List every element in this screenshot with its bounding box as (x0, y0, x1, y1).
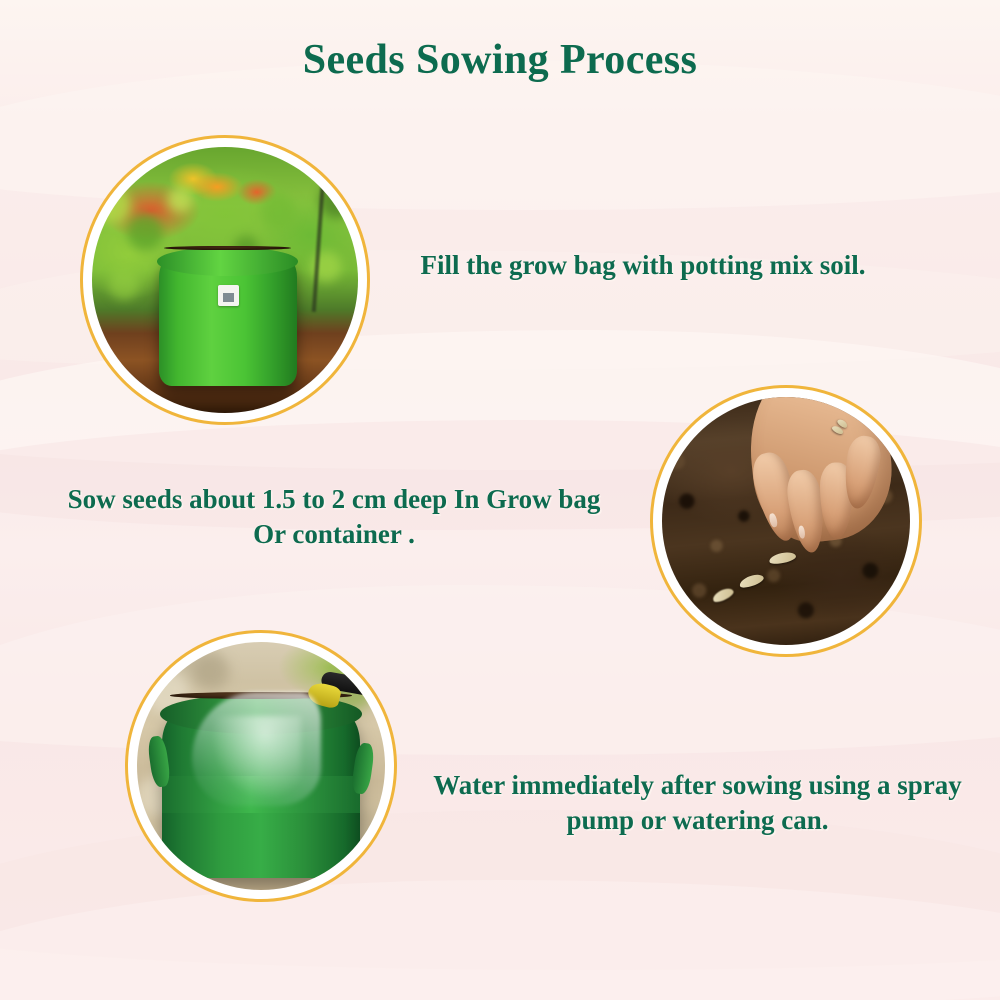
grow-bag-label-tag (218, 285, 239, 306)
seed (711, 586, 735, 605)
grow-bag-body (159, 256, 297, 386)
step-1-caption: Fill the grow bag with potting mix soil. (378, 248, 908, 283)
step-2-caption: Sow seeds about 1.5 to 2 cm deep In Grow… (58, 482, 610, 551)
grow-bag-handle-left (146, 735, 171, 788)
plant-stake (312, 163, 326, 312)
seeds-sowing-process-poster: Seeds Sowing Process Fill the grow bag w… (0, 0, 1000, 1000)
hand (743, 397, 899, 548)
grow-bag-rim (157, 247, 298, 276)
background-wave-band (0, 880, 1000, 1000)
soil-bed-scene (662, 397, 910, 645)
seed (768, 551, 797, 566)
hand-sowing-seeds-in-soil-photo (662, 397, 910, 645)
step-3-caption: Water immediately after sowing using a s… (405, 768, 990, 837)
step-3-photo-frame (125, 630, 397, 902)
watering-grow-bag-photo (137, 642, 385, 890)
step-1-photo-frame (80, 135, 370, 425)
outdoor-ground-scene (137, 642, 385, 890)
water-spray-mist (211, 716, 300, 800)
fingernail (769, 512, 779, 528)
garden-background-scene (92, 147, 358, 413)
seed (738, 572, 765, 590)
grow-bag-handle-right (351, 742, 376, 795)
green-grow-bag-with-potting-soil-photo (92, 147, 358, 413)
step-2-photo-frame (650, 385, 922, 657)
poster-title: Seeds Sowing Process (0, 36, 1000, 84)
potting-soil-surface (164, 246, 291, 251)
fingernail (798, 525, 806, 539)
